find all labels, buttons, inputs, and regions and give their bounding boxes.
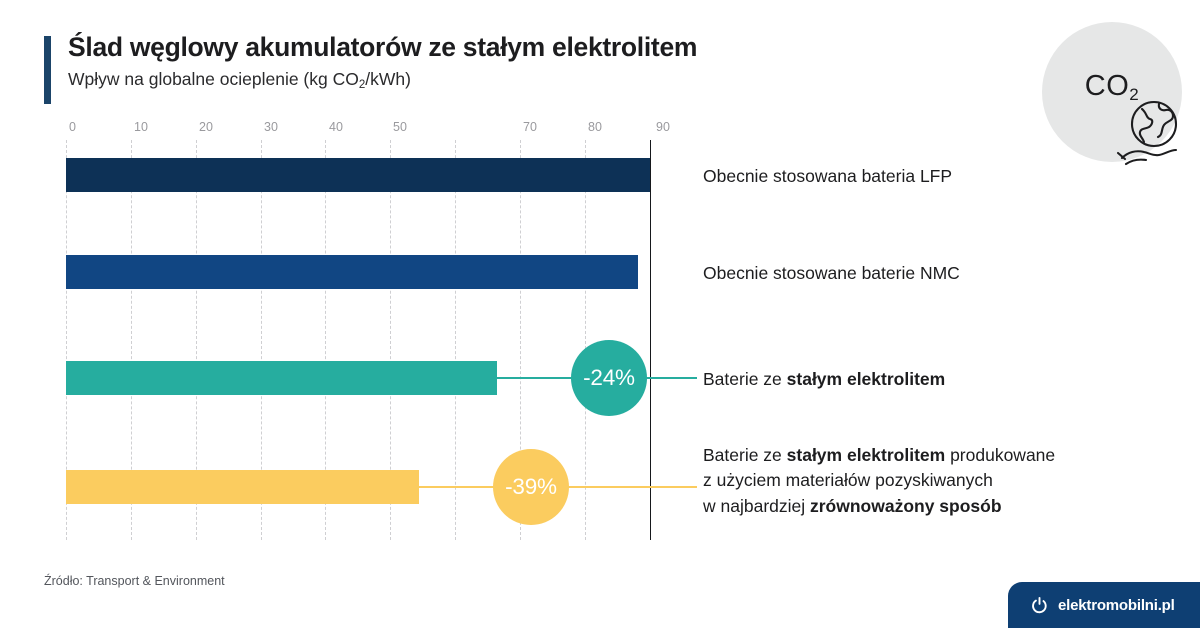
- brand-name: elektromobilni.pl: [1058, 597, 1175, 614]
- bar-solid-electrolyte[interactable]: [66, 361, 497, 395]
- bar-nmc[interactable]: [66, 255, 638, 289]
- power-refresh-icon: [1030, 596, 1049, 615]
- category-labels: Obecnie stosowana bateria LFP Obecnie st…: [703, 140, 1183, 540]
- category-label-sustainable: Baterie ze stałym elektrolitem produkowa…: [703, 443, 1173, 519]
- x-tick-30: 30: [264, 120, 278, 134]
- x-tick-80: 80: [588, 120, 602, 134]
- bar-lfp[interactable]: [66, 158, 650, 192]
- category-label-solid-electrolyte: Baterie ze stałym elektrolitem: [703, 367, 1173, 392]
- x-tick-20: 20: [199, 120, 213, 134]
- gridline-60: [455, 140, 456, 540]
- x-axis-tick-labels: 0 10 20 30 40 50 70 80 90: [66, 120, 716, 138]
- x-tick-90: 90: [656, 120, 670, 134]
- source-note: Źródło: Transport & Environment: [44, 574, 225, 588]
- plot-area: -24% -39%: [66, 140, 650, 540]
- x-tick-10: 10: [134, 120, 148, 134]
- brand-footer[interactable]: elektromobilni.pl: [1008, 582, 1200, 628]
- x-tick-0: 0: [69, 120, 76, 134]
- gridline-80: [585, 140, 586, 540]
- category-label-nmc: Obecnie stosowane baterie NMC: [703, 261, 1173, 286]
- category-label-lfp: Obecnie stosowana bateria LFP: [703, 164, 1173, 189]
- badge-reduction-39: -39%: [493, 449, 569, 525]
- x-tick-70: 70: [523, 120, 537, 134]
- y-axis-line: [650, 140, 651, 540]
- badge-reduction-24: -24%: [571, 340, 647, 416]
- bar-chart: 0 10 20 30 40 50 70 80 90: [0, 0, 1200, 628]
- bar-sustainable[interactable]: [66, 470, 419, 504]
- x-tick-40: 40: [329, 120, 343, 134]
- x-tick-50: 50: [393, 120, 407, 134]
